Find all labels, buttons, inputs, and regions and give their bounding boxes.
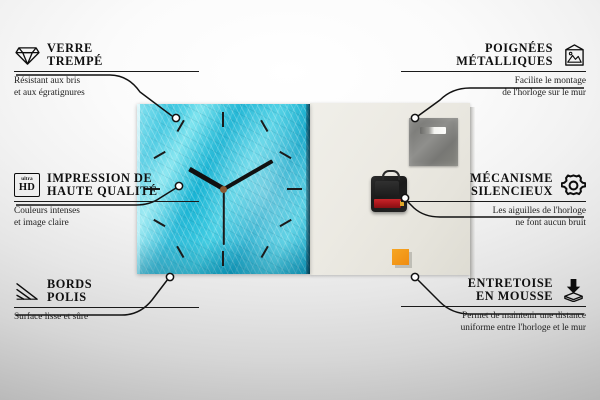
mechanism-hook-icon [382, 170, 400, 180]
feature-subtitle: Résistant aux bris et aux égratignures [14, 75, 199, 100]
feature-divider [14, 201, 199, 202]
feature-bords-polis: BORDS POLIS Surface lisse et sûre [14, 278, 199, 323]
feature-subtitle: Surface lisse et sûre [14, 311, 199, 323]
clock-tick [287, 188, 302, 190]
ultra-hd-icon: ultra HD [14, 172, 40, 198]
gear-icon [560, 172, 586, 198]
press-down-icon [560, 277, 586, 303]
feature-impression-haute-qualite: ultra HD IMPRESSION DE HAUTE QUALITÉ Cou… [14, 172, 199, 230]
feature-divider [14, 71, 199, 72]
feature-title: POIGNÉES MÉTALLIQUES [456, 42, 553, 67]
hanger-slot [420, 127, 446, 134]
polished-edge-icon [14, 278, 40, 304]
feature-subtitle: Les aiguilles de l'horloge ne font aucun… [401, 205, 586, 230]
feature-title: VERRE TREMPÉ [47, 42, 103, 67]
feature-verre-trempe: VERRE TREMPÉ Résistant aux bris et aux é… [14, 42, 199, 100]
feature-title: MÉCANISME SILENCIEUX [470, 172, 553, 197]
clock-tick [222, 251, 224, 266]
feature-divider [401, 71, 586, 72]
diamond-icon [14, 42, 40, 68]
feature-subtitle: Couleurs intenses et image claire [14, 205, 199, 230]
feature-header: MÉCANISME SILENCIEUX [401, 172, 586, 198]
feature-title: IMPRESSION DE HAUTE QUALITÉ [47, 172, 158, 197]
clock-tick [222, 112, 224, 127]
feature-subtitle: Permet de maintenir une distance uniform… [401, 310, 586, 335]
feature-divider [14, 307, 199, 308]
battery [374, 199, 401, 208]
ultra-hd-icon-label-main: HD [19, 183, 35, 194]
feature-divider [401, 306, 586, 307]
feature-header: VERRE TREMPÉ [14, 42, 199, 68]
feature-divider [401, 201, 586, 202]
picture-hanger-icon [560, 42, 586, 68]
feature-title: ENTRETOISE EN MOUSSE [468, 277, 553, 302]
feature-header: ENTRETOISE EN MOUSSE [401, 277, 586, 303]
feature-subtitle: Facilite le montage de l'horloge sur le … [401, 75, 586, 100]
glass-edge-right [306, 104, 310, 274]
clock-center-cap [220, 186, 227, 193]
mechanism-panel [375, 181, 399, 196]
feature-header: BORDS POLIS [14, 278, 199, 304]
clock-second-hand [223, 189, 225, 245]
feature-poignees-metalliques: POIGNÉES MÉTALLIQUES Facilite le montage… [401, 42, 586, 100]
foam-spacer [392, 249, 409, 265]
feature-title: BORDS POLIS [47, 278, 92, 303]
metal-hanger-plate [409, 118, 458, 166]
product-infographic: VERRE TREMPÉ Résistant aux bris et aux é… [0, 0, 600, 400]
feature-entretoise-en-mousse: ENTRETOISE EN MOUSSE Permet de maintenir… [401, 277, 586, 335]
feature-header: ultra HD IMPRESSION DE HAUTE QUALITÉ [14, 172, 199, 198]
feature-mecanisme-silencieux: MÉCANISME SILENCIEUX Les aiguilles de l'… [401, 172, 586, 230]
feature-header: POIGNÉES MÉTALLIQUES [401, 42, 586, 68]
